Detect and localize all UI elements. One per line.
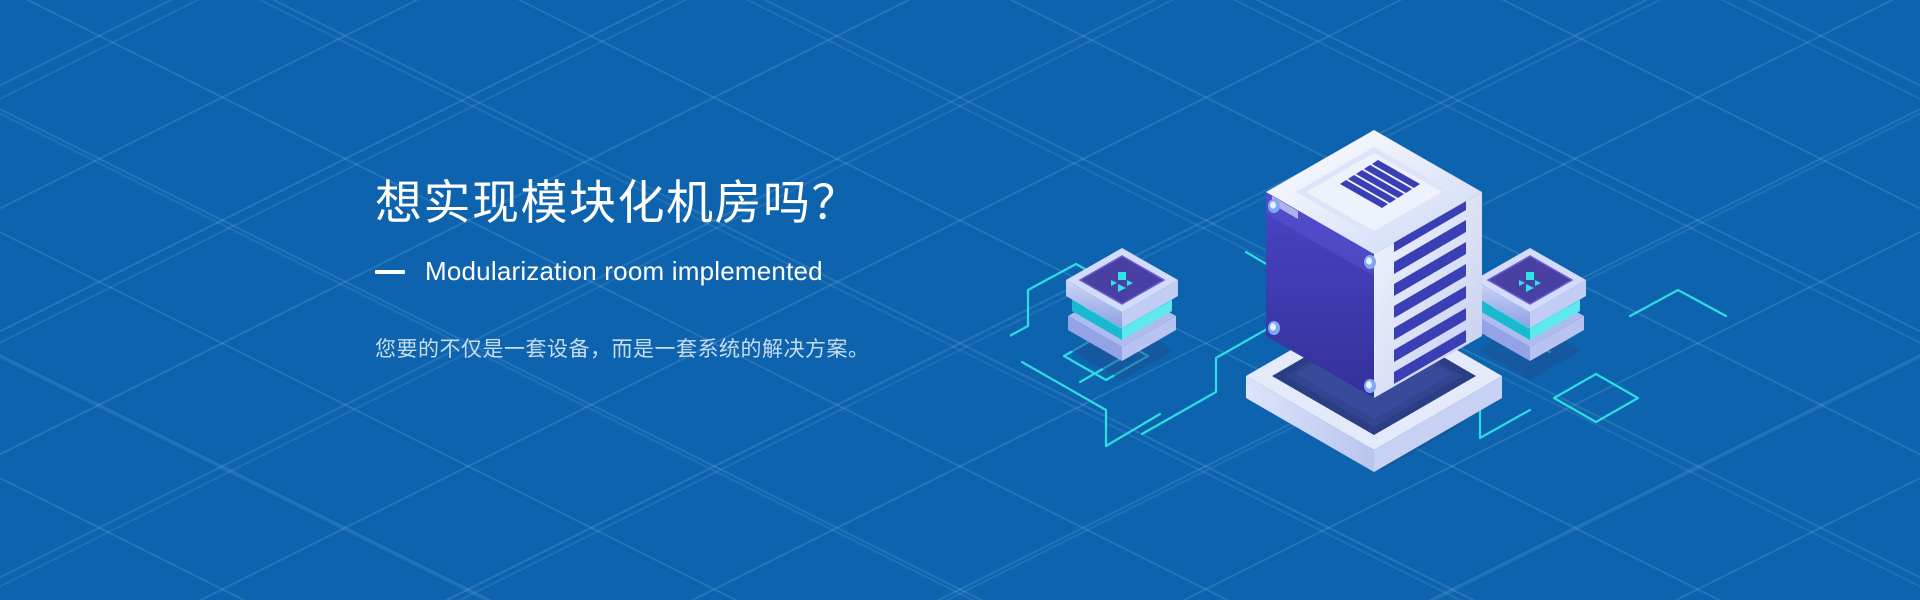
page-subtitle: Modularization room implemented — [425, 256, 823, 287]
accent-dash-icon — [375, 270, 405, 274]
isometric-server-illustration — [1010, 80, 1730, 520]
hero-banner: 想实现模块化机房吗？ Modularization room implement… — [0, 0, 1920, 600]
